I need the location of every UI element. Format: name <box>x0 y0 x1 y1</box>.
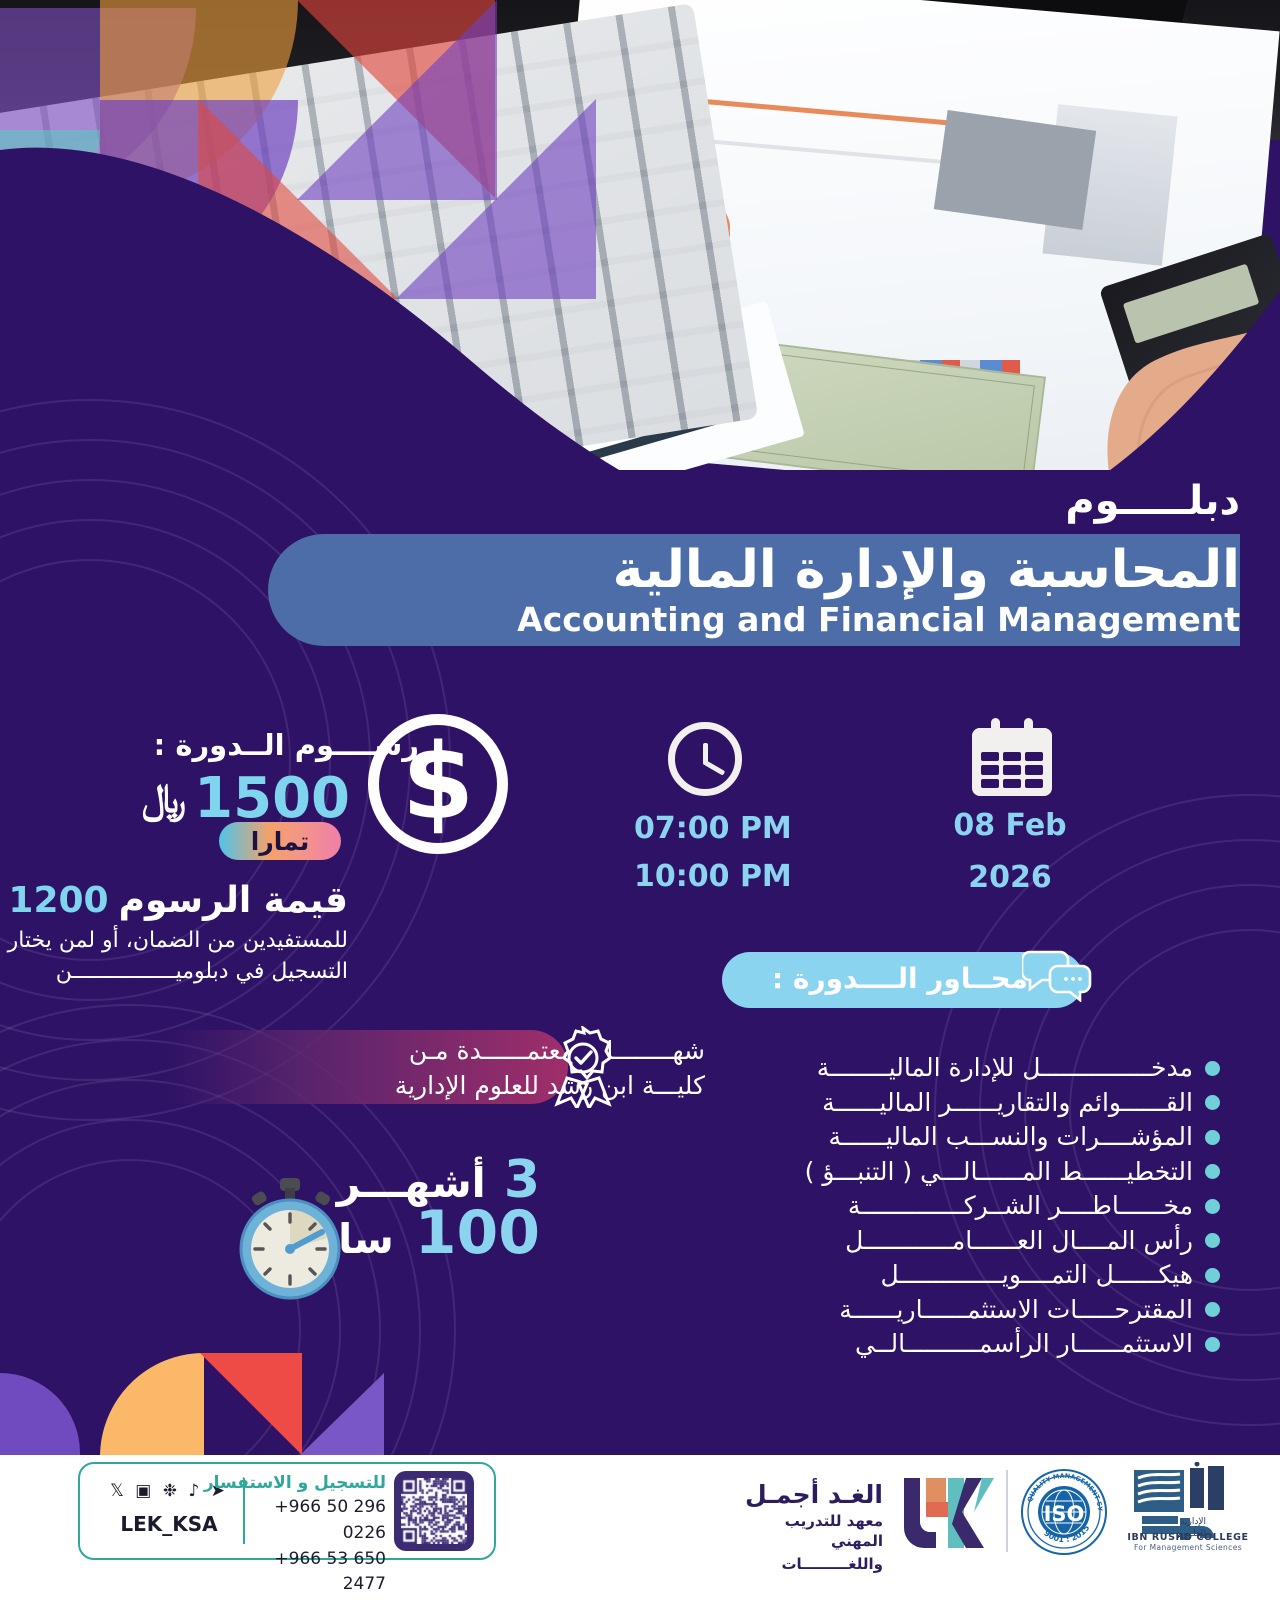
duration-hours-number: 100 <box>415 1198 540 1268</box>
lek-sub-line-2: واللغـــــــــات <box>733 1554 883 1574</box>
topic-item: مدخـــــــــــــــل للإدارة الماليــــــ… <box>710 1052 1220 1085</box>
course-date-year: 2026 <box>930 852 1090 904</box>
topic-item: هيكــــــل التمــــويــــــــــــــل <box>710 1259 1220 1292</box>
topic-label: القــــــوائم والتقاريــــــر الماليــــ… <box>822 1087 1193 1120</box>
topic-label: التخطيــــــط المــــــالـــي ( التنبـــ… <box>805 1156 1193 1189</box>
calendar-icon <box>972 718 1052 796</box>
deco-bottom-purple-triangle <box>300 1373 384 1455</box>
discounted-fees: قيمة الرسوم 1200 ﷼ <box>0 877 348 923</box>
discounted-fees-label: قيمة الرسوم <box>119 880 348 921</box>
college-name-en: IBN RUSHD COLLEGE <box>1122 1532 1254 1543</box>
footer-divider <box>1006 1470 1008 1552</box>
bullet-dot-icon <box>1205 1302 1220 1317</box>
deco-bottom-purple-left <box>0 1373 80 1455</box>
course-date: 08 Feb 2026 <box>930 800 1090 903</box>
deco-bottom-orange-quarter <box>100 1353 204 1457</box>
course-date-day: 08 Feb <box>930 800 1090 852</box>
fees-note: للمستفيدين من الضمان، أو لمن يختار التسج… <box>0 925 348 987</box>
topic-label: رأس المــــال العــــــامــــــــــــل <box>845 1225 1193 1258</box>
topic-label: مخــــــاطــــر الشــركــــــــــــــة <box>848 1190 1193 1223</box>
certificate-medal-icon <box>545 1026 621 1108</box>
topic-item: التخطيــــــط المــــــالـــي ( التنبـــ… <box>710 1156 1220 1189</box>
bullet-dot-icon <box>1205 1199 1220 1214</box>
bullet-dot-icon <box>1205 1061 1220 1076</box>
svg-text:الإدارية: الإدارية <box>1180 1517 1206 1527</box>
qr-code[interactable] <box>394 1471 474 1551</box>
discounted-fees-number: 1200 <box>8 880 108 921</box>
topic-item: المؤشــــرات والنســـب الماليــــــة <box>710 1121 1220 1154</box>
register-label: للتسجيل و الاستفسار <box>256 1473 386 1493</box>
clock-icon <box>668 722 742 796</box>
phone-number[interactable]: +966 50 296 0226 <box>236 1495 386 1547</box>
lek-tagline: الغـد أجمـل <box>733 1480 883 1509</box>
topic-label: مدخـــــــــــــــل للإدارة الماليــــــ… <box>817 1052 1193 1085</box>
course-time-end: 10:00 PM <box>634 853 792 901</box>
phone-number[interactable]: +966 53 650 2477 <box>236 1547 386 1599</box>
bullet-dot-icon <box>1205 1233 1220 1248</box>
chat-bubbles-icon <box>1022 948 1092 1002</box>
page-title-english: Accounting and Financial Management <box>517 600 1240 639</box>
stopwatch-icon <box>230 1176 350 1301</box>
topic-item: القــــــوائم والتقاريــــــر الماليــــ… <box>710 1087 1220 1120</box>
poster-root: personal exp <box>0 0 1280 1600</box>
certificate-line-1: شهــــــــادة معتمــــــدة مـن <box>305 1034 705 1069</box>
iso-label: ISO <box>1044 1502 1085 1526</box>
topic-label: هيكــــــل التمــــويــــــــــــــل <box>880 1259 1193 1292</box>
tamara-badge: تمارا <box>219 822 341 860</box>
lek-sub-line-1: معهد للتدريب المهني <box>733 1511 883 1552</box>
certificate-line-2: كليـــة ابن رشد للعلوم الإدارية <box>305 1069 705 1104</box>
dollar-coin-icon: $ <box>368 714 508 854</box>
topics-list: مدخـــــــــــــــل للإدارة الماليــــــ… <box>710 1052 1220 1363</box>
topics-heading-label: محــاور الــــدورة : <box>772 962 1028 995</box>
diploma-label: دبلـــــوم <box>1065 478 1240 524</box>
deco-bottom-red-triangle <box>200 1353 302 1455</box>
riyal-icon: ﷼ <box>142 776 186 822</box>
topic-item: رأس المــــال العــــــامــــــــــــل <box>710 1225 1220 1258</box>
topic-label: الاستثمــــــار الرأسمــــــــــالــي <box>855 1328 1193 1361</box>
lek-arabic-text: الغـد أجمـل معهد للتدريب المهني واللغـــ… <box>733 1480 883 1574</box>
hero-wave-mask <box>0 120 1280 470</box>
bullet-dot-icon <box>1205 1337 1220 1352</box>
college-sub-en: For Management Sciences <box>1122 1543 1254 1552</box>
bullet-dot-icon <box>1205 1268 1220 1283</box>
page-title-arabic: المحاسبة والإدارة المالية <box>613 540 1240 600</box>
topic-label: المقترحـــــات الاستثمــــــاريــــــة <box>839 1294 1193 1327</box>
certificate-text: شهــــــــادة معتمــــــدة مـن كليـــة ا… <box>305 1034 705 1103</box>
bullet-dot-icon <box>1205 1164 1220 1179</box>
bullet-dot-icon <box>1205 1130 1220 1145</box>
course-time-start: 07:00 PM <box>634 805 792 853</box>
hero-image: personal exp <box>0 0 1280 470</box>
topic-label: المؤشــــرات والنســـب الماليــــــة <box>829 1121 1194 1154</box>
topic-item: الاستثمــــــار الرأسمــــــــــالــي <box>710 1328 1220 1361</box>
phone-list[interactable]: +966 50 296 0226+966 53 650 2477+966 56 … <box>236 1495 386 1600</box>
social-handle: LEK_KSA <box>104 1512 234 1536</box>
topic-item: المقترحـــــات الاستثمــــــاريــــــة <box>710 1294 1220 1327</box>
iso-certification-icon: ISO QUALITY MANAGEMENT SYSTEM 9001 : 201… <box>1020 1468 1108 1556</box>
topic-item: مخــــــاطــــر الشــركــــــــــــــة <box>710 1190 1220 1223</box>
course-time: 07:00 PM 10:00 PM <box>634 805 792 901</box>
bullet-dot-icon <box>1205 1095 1220 1110</box>
lek-logo <box>896 1472 996 1550</box>
